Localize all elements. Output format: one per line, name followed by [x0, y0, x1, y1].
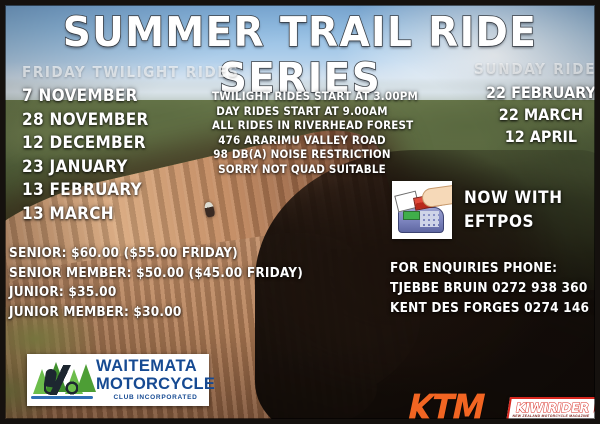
kiwirider-name: KIWIRIDER [515, 401, 590, 414]
waitemata-motorcycle-club-logo: WAITEMATA MOTORCYCLE CLUB INCORPORATED [27, 354, 209, 406]
club-name-text: WAITEMATA MOTORCYCLE CLUB INCORPORATED [96, 358, 215, 402]
ground-line [31, 396, 93, 399]
club-name-line3: CLUB INCORPORATED [96, 395, 215, 402]
eftpos-callout: NOW WITH EFTPOS [392, 181, 563, 239]
sunday-date: 22 MARCH [474, 104, 600, 126]
motorcycle-trees-icon [31, 357, 93, 403]
kiwirider-tagline: NEW ZEALAND MOTORCYCLE MAGAZINE [512, 414, 590, 419]
friday-date: 13 MARCH [22, 203, 239, 227]
price-line: JUNIOR: $35.00 [9, 283, 303, 303]
ktm-logo: KTM [403, 385, 488, 424]
price-line: SENIOR MEMBER: $50.00 ($45.00 FRIDAY) [9, 264, 303, 284]
eftpos-text: NOW WITH EFTPOS [464, 186, 563, 234]
ride-info-line: ALL RIDES IN RIVERHEAD FOREST [212, 118, 392, 133]
ride-info-line: 98 DB(A) NOISE RESTRICTION [212, 147, 392, 162]
contact-tjebbe-bruin: TJEBBE BRUIN 0272 938 360 [390, 278, 600, 298]
friday-date: 23 JANUARY [22, 156, 239, 180]
sunday-rides-column: SUNDAY RIDES 22 FEBRUARY 22 MARCH 12 APR… [474, 60, 600, 148]
ride-info-line: 476 ARARIMU VALLEY ROAD [212, 133, 392, 148]
friday-twilight-rides-column: FRIDAY TWILIGHT RIDES 7 NOVEMBER 28 NOVE… [22, 63, 239, 226]
contact-kent-des-forges: KENT DES FORGES 0274 146 122 [390, 298, 600, 318]
sunday-date: 22 FEBRUARY [474, 82, 600, 104]
terminal-keypad [420, 211, 439, 227]
price-line: JUNIOR MEMBER: $30.00 [9, 303, 303, 323]
ride-info-column: TWILIGHT RIDES START AT 3.00PM DAY RIDES… [212, 89, 392, 176]
club-name-line1: WAITEMATA [96, 358, 215, 375]
ride-info-line: DAY RIDES START AT 9.00AM [212, 104, 392, 119]
friday-date: 12 DECEMBER [22, 132, 239, 156]
price-line: SENIOR: $60.00 ($55.00 FRIDAY) [9, 244, 303, 264]
eftpos-line: EFTPOS [464, 210, 563, 234]
sunday-column-heading: SUNDAY RIDES [474, 60, 600, 78]
enquiries-heading: FOR ENQUIRIES PHONE: [390, 258, 600, 278]
hand [421, 185, 452, 209]
ride-info-line: TWILIGHT RIDES START AT 3.00PM [212, 89, 392, 104]
enquiries-block: FOR ENQUIRIES PHONE: TJEBBE BRUIN 0272 9… [390, 258, 600, 318]
terminal-body [398, 207, 444, 233]
friday-column-heading: FRIDAY TWILIGHT RIDES [22, 63, 239, 81]
friday-date: 28 NOVEMBER [22, 109, 239, 133]
ride-info-line: SORRY NOT QUAD SUITABLE [212, 162, 392, 177]
friday-date: 13 FEBRUARY [22, 179, 239, 203]
kiwirider-logo: KIWIRIDER NEW ZEALAND MOTORCYCLE MAGAZIN… [506, 397, 598, 422]
club-name-line2: MOTORCYCLE [96, 376, 215, 393]
pricing-list: SENIOR: $60.00 ($55.00 FRIDAY) SENIOR ME… [9, 244, 303, 322]
sunday-date: 12 APRIL [474, 126, 600, 148]
friday-date: 7 NOVEMBER [22, 85, 239, 109]
eftpos-line: NOW WITH [464, 186, 563, 210]
terminal-screen [403, 211, 420, 220]
summer-trail-ride-series-poster: SUMMER TRAIL RIDE SERIES FRIDAY TWILIGHT… [0, 0, 600, 424]
tree-icon [76, 364, 96, 392]
eftpos-terminal-icon [392, 181, 452, 239]
